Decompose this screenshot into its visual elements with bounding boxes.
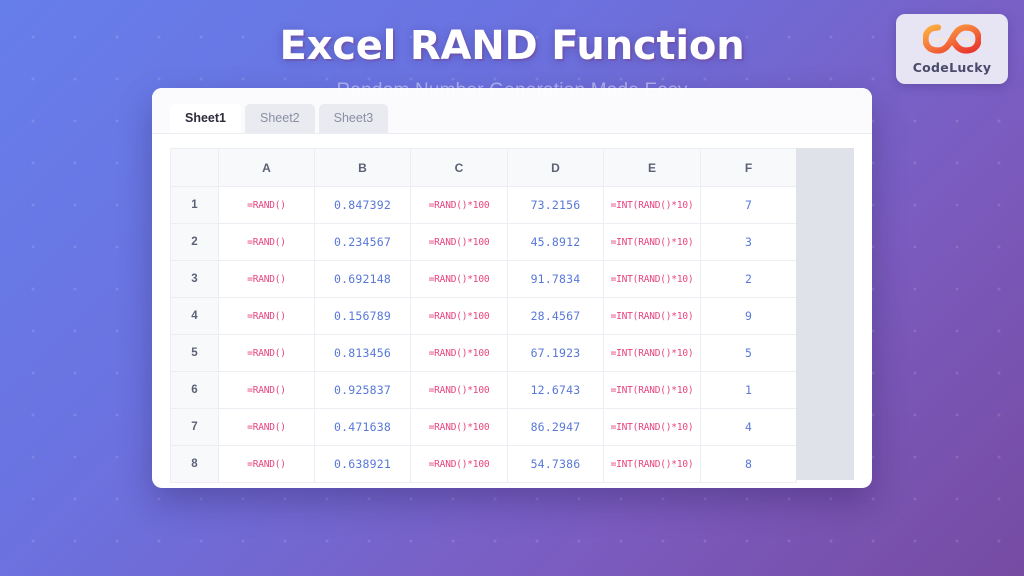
table-row: 7 =RAND() 0.471638 =RAND()*100 86.2947 =… <box>171 409 797 446</box>
row-header[interactable]: 4 <box>171 298 219 335</box>
row-header[interactable]: 1 <box>171 187 219 224</box>
column-header-d[interactable]: D <box>508 149 604 187</box>
cell-d8[interactable]: 54.7386 <box>508 446 604 483</box>
cell-d2[interactable]: 45.8912 <box>508 224 604 261</box>
cell-e6[interactable]: =INT(RAND()*10) <box>604 372 701 409</box>
cell-a5[interactable]: =RAND() <box>219 335 315 372</box>
column-header-a[interactable]: A <box>219 149 315 187</box>
table-row: 2 =RAND() 0.234567 =RAND()*100 45.8912 =… <box>171 224 797 261</box>
cell-b2[interactable]: 0.234567 <box>315 224 411 261</box>
cell-a1[interactable]: =RAND() <box>219 187 315 224</box>
cell-f5[interactable]: 5 <box>701 335 797 372</box>
cell-f2[interactable]: 3 <box>701 224 797 261</box>
table-row: 4 =RAND() 0.156789 =RAND()*100 28.4567 =… <box>171 298 797 335</box>
table-row: 8 =RAND() 0.638921 =RAND()*100 54.7386 =… <box>171 446 797 483</box>
cell-c4[interactable]: =RAND()*100 <box>411 298 508 335</box>
cell-f7[interactable]: 4 <box>701 409 797 446</box>
cell-a3[interactable]: =RAND() <box>219 261 315 298</box>
cell-d6[interactable]: 12.6743 <box>508 372 604 409</box>
cell-b3[interactable]: 0.692148 <box>315 261 411 298</box>
sheet-tab-sheet1[interactable]: Sheet1 <box>170 104 241 133</box>
cell-b5[interactable]: 0.813456 <box>315 335 411 372</box>
table-row: 6 =RAND() 0.925837 =RAND()*100 12.6743 =… <box>171 372 797 409</box>
cell-d3[interactable]: 91.7834 <box>508 261 604 298</box>
cell-f8[interactable]: 8 <box>701 446 797 483</box>
sheet-tab-bar: Sheet1 Sheet2 Sheet3 <box>152 88 872 134</box>
cell-f4[interactable]: 9 <box>701 298 797 335</box>
cell-f6[interactable]: 1 <box>701 372 797 409</box>
table-row: 5 =RAND() 0.813456 =RAND()*100 67.1923 =… <box>171 335 797 372</box>
spreadsheet-card: Sheet1 Sheet2 Sheet3 A B C D E F 1 =RAND… <box>152 88 872 488</box>
grid-overflow-block <box>796 148 854 480</box>
cell-e8[interactable]: =INT(RAND()*10) <box>604 446 701 483</box>
page-header: Excel RAND Function Random Number Genera… <box>0 0 1024 102</box>
cell-c5[interactable]: =RAND()*100 <box>411 335 508 372</box>
cell-d1[interactable]: 73.2156 <box>508 187 604 224</box>
cell-b8[interactable]: 0.638921 <box>315 446 411 483</box>
column-header-f[interactable]: F <box>701 149 797 187</box>
row-header[interactable]: 2 <box>171 224 219 261</box>
cell-b1[interactable]: 0.847392 <box>315 187 411 224</box>
row-header[interactable]: 6 <box>171 372 219 409</box>
column-header-b[interactable]: B <box>315 149 411 187</box>
brand-name: CodeLucky <box>913 60 992 75</box>
grid-corner-cell[interactable] <box>171 149 219 187</box>
cell-e7[interactable]: =INT(RAND()*10) <box>604 409 701 446</box>
cell-c1[interactable]: =RAND()*100 <box>411 187 508 224</box>
sheet-tab-sheet2[interactable]: Sheet2 <box>245 104 315 133</box>
cell-b4[interactable]: 0.156789 <box>315 298 411 335</box>
table-row: 3 =RAND() 0.692148 =RAND()*100 91.7834 =… <box>171 261 797 298</box>
spreadsheet-grid: A B C D E F 1 =RAND() 0.847392 =RAND()*1… <box>170 148 797 483</box>
cell-a8[interactable]: =RAND() <box>219 446 315 483</box>
cell-c7[interactable]: =RAND()*100 <box>411 409 508 446</box>
cell-c6[interactable]: =RAND()*100 <box>411 372 508 409</box>
cell-d4[interactable]: 28.4567 <box>508 298 604 335</box>
cell-a2[interactable]: =RAND() <box>219 224 315 261</box>
page-title: Excel RAND Function <box>0 24 1024 68</box>
cell-a7[interactable]: =RAND() <box>219 409 315 446</box>
column-header-c[interactable]: C <box>411 149 508 187</box>
sheet-table-wrapper: A B C D E F 1 =RAND() 0.847392 =RAND()*1… <box>152 134 872 488</box>
brand-badge: CodeLucky <box>896 14 1008 84</box>
row-header[interactable]: 3 <box>171 261 219 298</box>
cell-f3[interactable]: 2 <box>701 261 797 298</box>
grid-body: 1 =RAND() 0.847392 =RAND()*100 73.2156 =… <box>171 187 797 483</box>
column-header-row: A B C D E F <box>171 149 797 187</box>
cell-e5[interactable]: =INT(RAND()*10) <box>604 335 701 372</box>
sheet-tab-sheet3[interactable]: Sheet3 <box>319 104 389 133</box>
cell-f1[interactable]: 7 <box>701 187 797 224</box>
cell-e2[interactable]: =INT(RAND()*10) <box>604 224 701 261</box>
cell-c8[interactable]: =RAND()*100 <box>411 446 508 483</box>
cell-c3[interactable]: =RAND()*100 <box>411 261 508 298</box>
table-row: 1 =RAND() 0.847392 =RAND()*100 73.2156 =… <box>171 187 797 224</box>
cell-d7[interactable]: 86.2947 <box>508 409 604 446</box>
cell-b6[interactable]: 0.925837 <box>315 372 411 409</box>
row-header[interactable]: 7 <box>171 409 219 446</box>
row-header[interactable]: 5 <box>171 335 219 372</box>
cell-d5[interactable]: 67.1923 <box>508 335 604 372</box>
cell-c2[interactable]: =RAND()*100 <box>411 224 508 261</box>
cell-a4[interactable]: =RAND() <box>219 298 315 335</box>
column-header-e[interactable]: E <box>604 149 701 187</box>
cell-e4[interactable]: =INT(RAND()*10) <box>604 298 701 335</box>
row-header[interactable]: 8 <box>171 446 219 483</box>
cell-e1[interactable]: =INT(RAND()*10) <box>604 187 701 224</box>
cell-a6[interactable]: =RAND() <box>219 372 315 409</box>
cell-e3[interactable]: =INT(RAND()*10) <box>604 261 701 298</box>
cell-b7[interactable]: 0.471638 <box>315 409 411 446</box>
infinity-icon <box>923 24 981 59</box>
